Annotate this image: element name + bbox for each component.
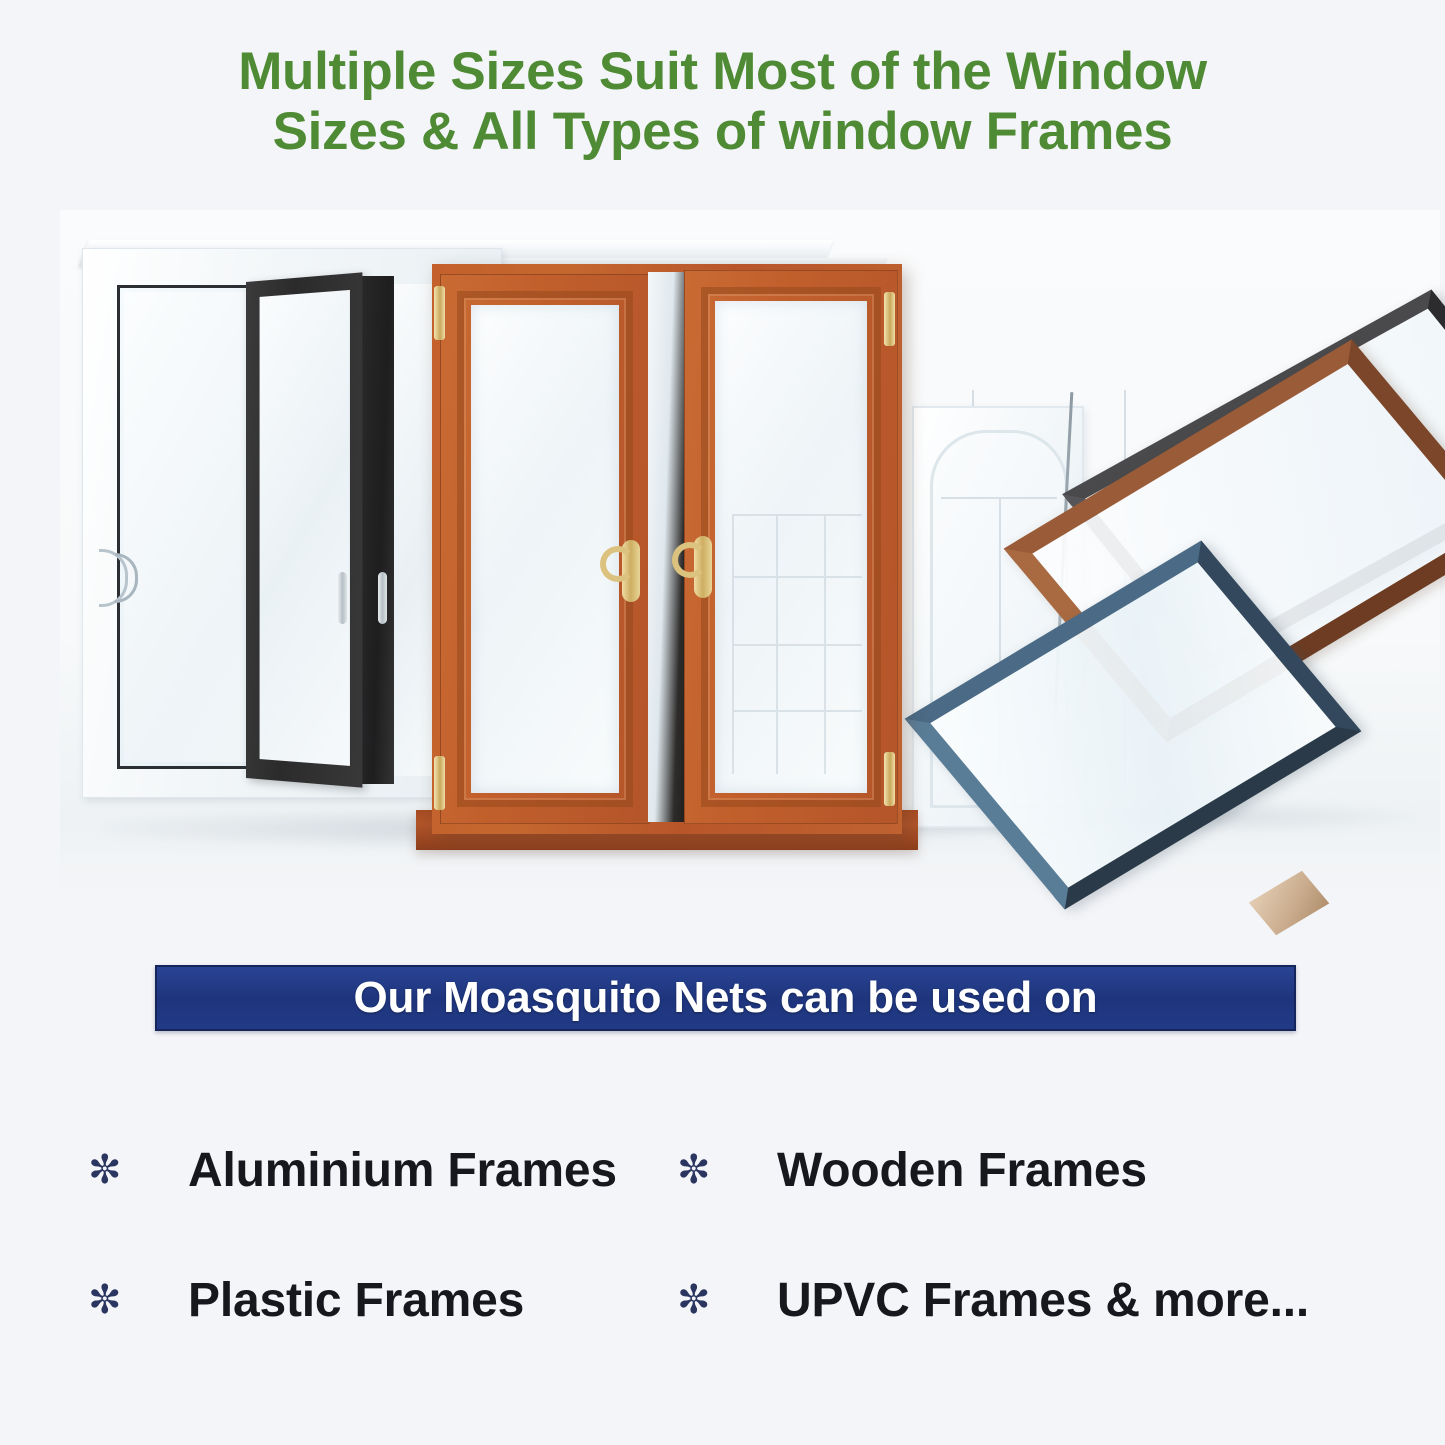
wooden-window-hinge-left-bottom-icon bbox=[434, 756, 445, 810]
list-item-label: Plastic Frames bbox=[188, 1273, 524, 1328]
dark-window-handle-secondary-icon bbox=[338, 572, 347, 624]
list-item-aluminium-frames: ✼ Aluminium Frames bbox=[0, 1105, 655, 1235]
usage-banner-text: Our Moasquito Nets can be used on bbox=[354, 976, 1098, 1020]
dark-window-stile-middle bbox=[358, 276, 394, 784]
page-title: Multiple Sizes Suit Most of the Window S… bbox=[0, 42, 1445, 163]
list-item-wooden-frames: ✼ Wooden Frames bbox=[655, 1105, 1445, 1235]
asterisk-icon: ✼ bbox=[677, 1280, 723, 1320]
dark-window-handle-icon bbox=[378, 572, 387, 624]
wooden-window-glass-left bbox=[471, 305, 619, 793]
list-item-plastic-frames: ✼ Plastic Frames bbox=[0, 1235, 655, 1365]
wooden-window-hinge-top-icon bbox=[884, 292, 895, 346]
wooden-window-handle-right-icon bbox=[694, 536, 712, 598]
page-title-line2: Sizes & All Types of window Frames bbox=[0, 102, 1445, 162]
list-item-label: Aluminium Frames bbox=[188, 1143, 617, 1198]
wooden-window-hinge-bottom-icon bbox=[884, 752, 895, 806]
dark-window-glass-left bbox=[260, 290, 350, 766]
wooden-window-handle-left-icon bbox=[622, 540, 640, 602]
glass-grid-reflection bbox=[732, 514, 862, 774]
list-item-label: UPVC Frames & more... bbox=[777, 1273, 1309, 1328]
wooden-window-hinge-left-top-icon bbox=[434, 286, 445, 340]
wood-tilted-frame-endgrain bbox=[1249, 871, 1329, 936]
window-frames-photo bbox=[60, 210, 1440, 900]
asterisk-icon: ✼ bbox=[88, 1280, 134, 1320]
frame-types-list: ✼ Aluminium Frames ✼ Wooden Frames ✼ Pla… bbox=[0, 1105, 1445, 1365]
page-title-line1: Multiple Sizes Suit Most of the Window bbox=[238, 42, 1207, 101]
dark-window-sash-open bbox=[246, 272, 362, 787]
asterisk-icon: ✼ bbox=[677, 1150, 723, 1190]
wooden-casement-window bbox=[432, 264, 902, 834]
usage-banner: Our Moasquito Nets can be used on bbox=[155, 965, 1296, 1031]
list-item-upvc-frames: ✼ UPVC Frames & more... bbox=[655, 1235, 1445, 1365]
asterisk-icon: ✼ bbox=[88, 1150, 134, 1190]
list-item-label: Wooden Frames bbox=[777, 1143, 1147, 1198]
